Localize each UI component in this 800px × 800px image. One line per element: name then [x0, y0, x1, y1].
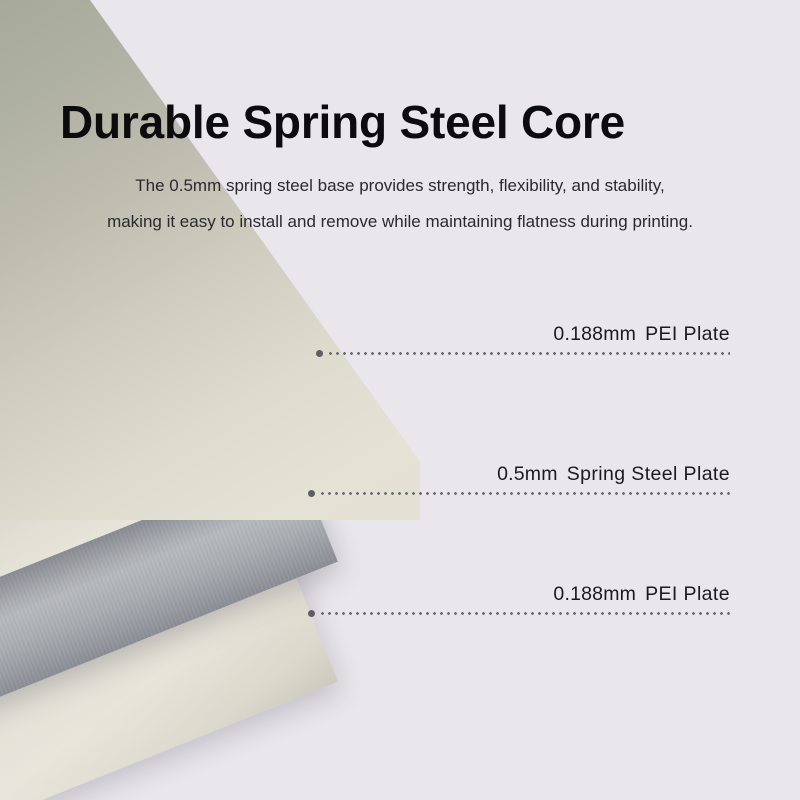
- callout-thickness-top-pei: 0.188mm: [553, 323, 636, 345]
- leader-anchor-dot: [316, 350, 323, 357]
- page-subtitle: The 0.5mm spring steel base provides str…: [0, 168, 800, 240]
- subtitle-line-1: The 0.5mm spring steel base provides str…: [0, 168, 800, 204]
- callout-top-pei: 0.188mmPEI Plate: [316, 326, 730, 356]
- callout-thickness-spring-steel: 0.5mm: [497, 463, 558, 485]
- page-title: Durable Spring Steel Core: [60, 96, 625, 148]
- infographic-canvas: Durable Spring Steel Core The 0.5mm spri…: [0, 0, 800, 800]
- callout-label-spring-steel: 0.5mmSpring Steel Plate: [497, 463, 730, 486]
- leader-dots: [319, 492, 730, 495]
- leader-line-spring-steel: [308, 490, 730, 496]
- leader-anchor-dot: [308, 490, 315, 497]
- leader-line-bottom-pei: [308, 610, 730, 616]
- plate-top-pei-surface: [0, 0, 420, 520]
- callout-label-top-pei: 0.188mmPEI Plate: [553, 323, 730, 346]
- callout-name-top-pei: PEI Plate: [645, 323, 730, 345]
- callout-spring-steel: 0.5mmSpring Steel Plate: [308, 466, 730, 496]
- leader-dots: [319, 612, 730, 615]
- callout-name-bottom-pei: PEI Plate: [645, 583, 730, 605]
- callout-name-spring-steel: Spring Steel Plate: [567, 463, 730, 485]
- leader-dots: [327, 352, 730, 355]
- leader-line-top-pei: [316, 350, 730, 356]
- subtitle-line-2: making it easy to install and remove whi…: [0, 204, 800, 240]
- callout-label-bottom-pei: 0.188mmPEI Plate: [553, 583, 730, 606]
- callout-bottom-pei: 0.188mmPEI Plate: [308, 586, 730, 616]
- callout-thickness-bottom-pei: 0.188mm: [553, 583, 636, 605]
- leader-anchor-dot: [308, 610, 315, 617]
